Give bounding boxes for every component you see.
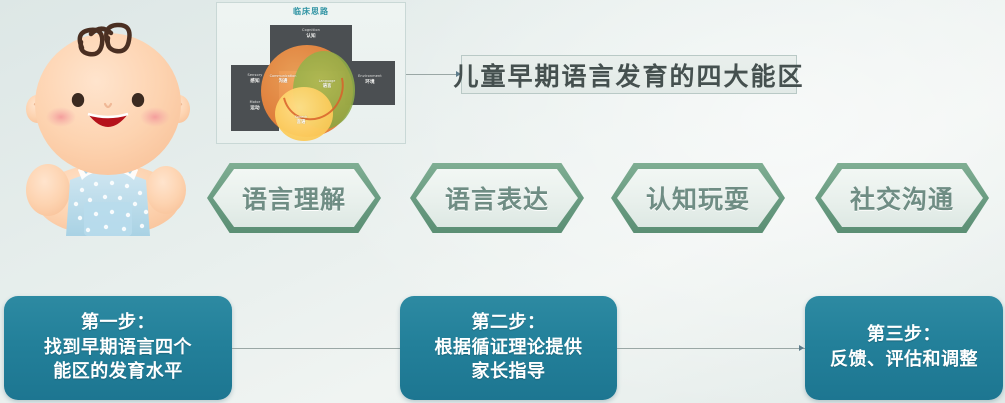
venn-label-communication: Communication 沟通 <box>265 74 301 85</box>
venn-label-language-en: Language <box>319 79 336 83</box>
step-box-1-line-1: 找到早期语言四个 <box>44 336 192 361</box>
domain-hexagon-label: 认知玩耍 <box>646 180 750 216</box>
step-box-1-heading: 第一步： <box>81 311 155 336</box>
domain-hexagon-inner: 语言理解 <box>213 169 375 227</box>
domain-hexagon-label: 语言表达 <box>445 180 549 216</box>
domain-hexagon-label: 语言理解 <box>242 180 346 216</box>
venn-label-speech-en: Speech <box>295 115 308 119</box>
domain-hexagon-cognitive-play[interactable]: 认知玩耍 <box>611 163 785 233</box>
domain-hexagon-inner: 社交沟通 <box>821 169 983 227</box>
step-box-3[interactable]: 第三步： 反馈、评估和调整 <box>805 296 1003 400</box>
cartoon-baby-illustration <box>8 4 208 236</box>
clinical-reasoning-diagram: 临床思路 Cognition 认知 Sensory 感知 Motor 运动 En… <box>216 2 406 144</box>
main-title-box: 儿童早期语言发育的四大能区 <box>461 55 797 94</box>
main-title-text: 儿童早期语言发育的四大能区 <box>454 57 805 93</box>
venn-label-communication-en: Communication <box>270 74 297 78</box>
venn-label-communication-cn: 沟通 <box>265 79 301 85</box>
step-box-2-heading: 第二步： <box>472 311 546 336</box>
domain-hexagon-inner: 语言表达 <box>416 169 578 227</box>
domain-hexagon-inner: 认知玩耍 <box>617 169 779 227</box>
step-box-2[interactable]: 第二步： 根据循证理论提供 家长指导 <box>400 296 617 400</box>
baby-svg <box>8 4 208 236</box>
connector-line-step2-to-step3 <box>617 348 805 349</box>
step-box-3-line-1: 反馈、评估和调整 <box>830 348 978 373</box>
slide-canvas: 临床思路 Cognition 认知 Sensory 感知 Motor 运动 En… <box>0 0 1005 403</box>
diagram-box-cognition-cn: 认知 <box>270 34 352 41</box>
connector-line-step1-to-step2 <box>232 348 414 349</box>
venn-label-language-cn: 语言 <box>309 84 345 90</box>
domain-hexagon-social-communication[interactable]: 社交沟通 <box>815 163 989 233</box>
diagram-box-cognition-en: Cognition <box>270 28 352 33</box>
connector-arrow-icon-step2-to-step3 <box>799 345 804 351</box>
venn-label-speech: Speech 言语 <box>283 115 319 126</box>
step-box-2-line-2: 家长指导 <box>472 360 546 385</box>
step-box-3-heading: 第三步： <box>867 323 941 348</box>
venn-label-speech-cn: 言语 <box>283 120 319 126</box>
venn-diagram: Communication 沟通 Language 语言 Speech 言语 <box>253 41 357 141</box>
domain-hexagon-language-expression[interactable]: 语言表达 <box>410 163 584 233</box>
diagram-title: 临床思路 <box>217 6 405 17</box>
venn-label-language: Language 语言 <box>309 79 345 90</box>
step-box-1-line-2: 能区的发育水平 <box>53 360 183 385</box>
step-box-2-line-1: 根据循证理论提供 <box>435 336 583 361</box>
domain-hexagon-language-comprehension[interactable]: 语言理解 <box>207 163 381 233</box>
step-box-1[interactable]: 第一步： 找到早期语言四个 能区的发育水平 <box>4 296 232 400</box>
domain-hexagon-label: 社交沟通 <box>850 180 954 216</box>
